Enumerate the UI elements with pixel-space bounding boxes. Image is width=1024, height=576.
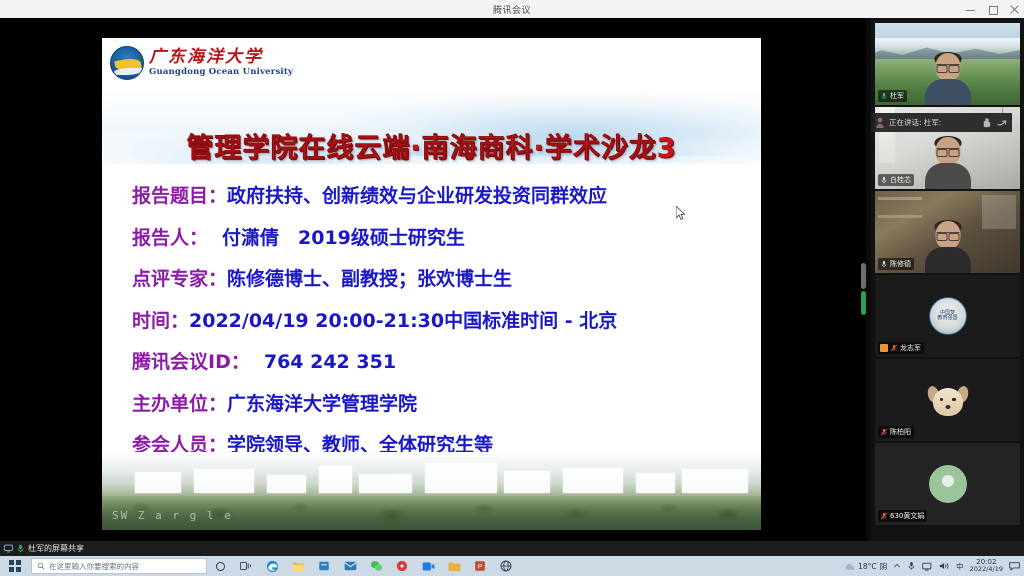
participant-figure [925,221,971,273]
info-row: 主办单位： 广东海洋大学管理学院 [132,384,742,426]
music-icon[interactable] [389,556,415,576]
edge-browser-icon[interactable] [259,556,285,576]
window-controls [965,0,1020,18]
participant-name: 龙志军 [900,343,921,353]
campus-photo: SW Z a r g l e [102,452,761,530]
participant-figure [925,53,971,105]
system-tray: 18°C 阴 中 20:02 2022/4/19 [844,556,1024,576]
maximize-button[interactable] [987,4,998,15]
mic-on-icon [880,176,888,184]
avatar-caption: 中国梦教育强国 [937,311,957,322]
mail-icon[interactable] [337,556,363,576]
browser-icon[interactable] [493,556,519,576]
ime-indicator[interactable]: 中 [956,561,964,572]
participant-figure [925,137,971,189]
info-value: 764 242 351 [264,342,396,384]
volume-icon[interactable] [939,561,950,571]
folder-icon[interactable] [441,556,467,576]
task-view-icon[interactable] [233,556,259,576]
campus-watermark: SW Z a r g l e [112,509,233,522]
participant-tile[interactable]: 陈修德 [875,191,1020,273]
search-icon [37,562,45,570]
chevron-up-icon[interactable] [893,562,901,570]
now-speaking-text: 正在讲话: 杜军: [889,117,941,128]
speaking-icons [981,117,1007,128]
stage-speaking-handle[interactable] [861,291,866,315]
shared-screen-stage[interactable]: 广东海洋大学 Guangdong Ocean University 管理学院在线… [0,18,866,541]
participant-name: 杜军 [890,91,904,101]
file-explorer-icon[interactable] [285,556,311,576]
host-badge-icon [880,344,888,352]
stage-scroll-handle[interactable] [861,263,866,289]
info-label: 报告题目： [132,176,227,218]
participant-tile[interactable]: 630黄文娟 [875,443,1020,525]
speaker-avatar-icon [876,117,884,128]
hand-raise-icon [981,117,992,128]
window-title: 腾讯会议 [493,3,531,16]
info-label: 腾讯会议ID： [132,342,250,384]
weather-desc: 阴 [880,561,888,572]
wave-icon [996,117,1007,128]
weather-indicator[interactable]: 18°C 阴 [844,561,887,572]
participant-name-badge: 杜军 [878,90,907,102]
participant-tile[interactable]: 陈柏阳 [875,359,1020,441]
avatar-head-shape [942,475,954,487]
presentation-slide: 广东海洋大学 Guangdong Ocean University 管理学院在线… [102,38,761,530]
slide-heading: 管理学院在线云端·南海商科·学术沙龙3 [102,126,761,165]
participant-name-badge: 白桂芯 [878,174,914,186]
tencent-meeting-window: 腾讯会议 广东海洋大学 Guangdong Ocean University 管… [0,0,1024,576]
weather-temp: 18°C [858,562,877,571]
shelf-shape [878,197,922,200]
info-row: 报告题目： 政府扶持、创新绩效与企业研发投资同群效应 [132,176,742,218]
mic-off-icon [880,512,888,520]
cloud-icon [844,562,855,571]
mic-on-icon [16,544,25,553]
participant-name-badge: 630黄文娟 [878,510,927,522]
mic-on-icon [880,260,888,268]
cortana-circle-icon[interactable] [207,556,233,576]
info-value: 广东海洋大学管理学院 [227,384,417,426]
info-label: 主办单位： [132,384,227,426]
avatar: 中国梦教育强国 [929,297,967,335]
wechat-icon[interactable] [363,556,389,576]
svg-text:P: P [478,564,483,571]
participant-name-badge: 陈修德 [878,258,914,270]
screen-share-label: 杜军的屏幕共享 [28,543,84,554]
info-label: 时间： [132,301,189,343]
slide-info-list: 报告题目： 政府扶持、创新绩效与企业研发投资同群效应 报告人： 付潇倩 2019… [132,176,742,467]
minimize-button[interactable] [965,4,976,15]
powerpoint-icon[interactable]: P [467,556,493,576]
university-name-cn: 广东海洋大学 [149,49,293,67]
frame-shape [982,195,1016,229]
search-input[interactable]: 在这里输入你要搜索的内容 [31,558,207,574]
window-titlebar: 腾讯会议 [0,0,1024,18]
participant-name: 630黄文娟 [890,511,924,521]
info-row: 报告人： 付潇倩 2019级硕士研究生 [132,218,742,260]
screen-share-status-bar: 杜军的屏幕共享 [0,541,1024,556]
now-speaking-bar: 正在讲话: 杜军: [871,113,1012,132]
participant-name: 陈柏阳 [890,427,911,437]
avatar [928,384,968,420]
shelf-shape [878,215,922,218]
participant-filmstrip[interactable]: 杜军 白桂芯 [871,18,1024,541]
tencent-meeting-icon[interactable] [415,556,441,576]
search-placeholder: 在这里输入你要搜索的内容 [49,561,139,572]
windows-start-icon[interactable] [0,556,30,576]
mic-off-icon [880,428,888,436]
mic-on-icon [880,92,888,100]
taskbar-clock[interactable]: 20:02 2022/4/19 [970,559,1003,573]
network-icon[interactable] [922,562,933,571]
participant-name-badge: 陈柏阳 [878,426,914,438]
participant-name: 陈修德 [890,259,911,269]
mic-icon[interactable] [907,561,916,571]
info-value: 陈修德博士、副教授；张欢博士生 [227,259,512,301]
info-value: 2022/04/19 20:00-21:30中国标准时间 - 北京 [189,301,617,343]
store-icon[interactable] [311,556,337,576]
info-label: 点评专家： [132,259,227,301]
mic-off-icon [890,344,898,352]
info-value: 付潇倩 2019级硕士研究生 [222,218,465,260]
clock-date: 2022/4/19 [970,566,1003,573]
participant-name-badge: 龙志军 [878,342,924,354]
info-label: 报告人： [132,218,208,260]
university-name-en: Guangdong Ocean University [149,67,293,77]
info-row: 腾讯会议ID： 764 242 351 [132,342,742,384]
participant-tile[interactable]: 中国梦教育强国 龙志军 [875,275,1020,357]
info-value: 政府扶持、创新绩效与企业研发投资同群效应 [227,176,607,218]
monitor-icon [4,544,13,553]
info-row: 时间： 2022/04/19 20:00-21:30中国标准时间 - 北京 [132,301,742,343]
avatar [929,465,967,503]
university-brand: 广东海洋大学 Guangdong Ocean University [110,46,293,80]
notification-center-icon[interactable] [1009,561,1020,571]
info-row: 点评专家： 陈修德博士、副教授；张欢博士生 [132,259,742,301]
windows-taskbar: 在这里输入你要搜索的内容 [0,556,1024,576]
close-button[interactable] [1009,4,1020,15]
participant-name: 白桂芯 [890,175,911,185]
participant-tile[interactable]: 杜军 [875,23,1020,105]
university-crest-icon [110,46,144,80]
